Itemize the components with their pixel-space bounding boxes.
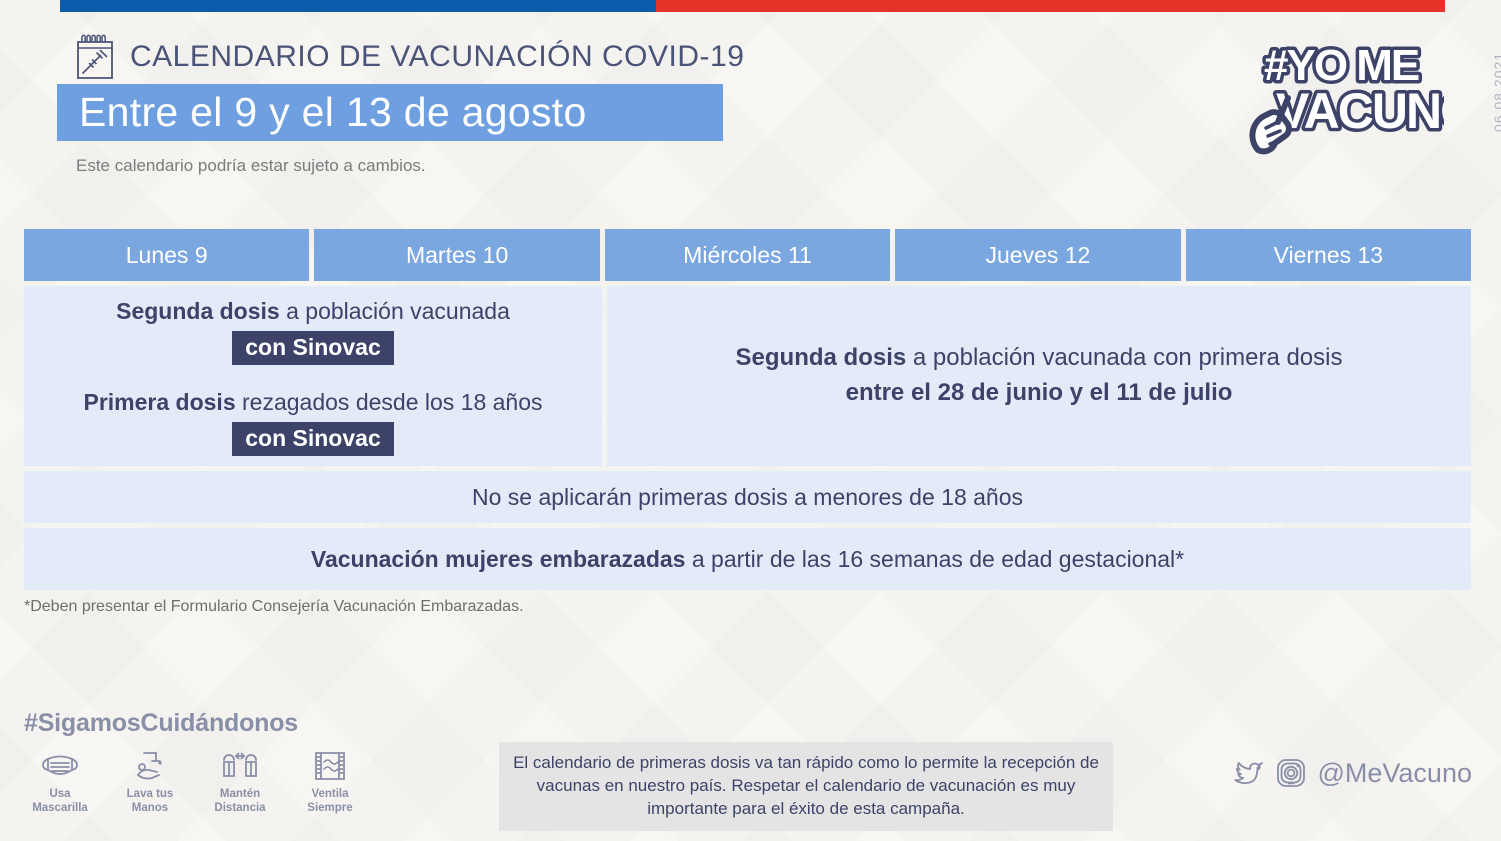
prevention-label-ventilate: Ventila Siempre — [294, 788, 366, 816]
badge-sinovac-2: con Sinovac — [232, 422, 393, 456]
footnote-text: *Deben presentar el Formulario Consejerí… — [24, 598, 524, 616]
subtitle-disclaimer: Este calendario podría estar sujeto a ca… — [76, 156, 426, 176]
right-line-1-rest: a población vacunada con primera dosis — [906, 344, 1342, 371]
prevention-label-mask: Usa Mascarilla — [24, 788, 96, 816]
left-line-1-rest: a población vacunada — [280, 298, 510, 324]
right-line-2-bold: entre el 28 de junio y el 11 de julio — [846, 379, 1233, 406]
prevention-item-wash-hands: Lava tus Manos — [114, 748, 186, 816]
flag-blue-segment — [60, 0, 656, 12]
day-header-row: Lunes 9 Martes 10 Miércoles 11 Jueves 12… — [24, 229, 1471, 281]
infographic-page: CALENDARIO DE VACUNACIÓN COVID-19 Entre … — [0, 0, 1501, 841]
face-mask-icon — [40, 748, 80, 784]
left-line-2-bold: Primera dosis — [83, 389, 235, 415]
badge-sinovac-1: con Sinovac — [232, 331, 393, 365]
row-pregnant-rest: a partir de las 16 semanas de edad gesta… — [685, 546, 1184, 572]
left-line-1: Segunda dosis a población vacunada — [116, 296, 510, 327]
date-range-banner: Entre el 9 y el 13 de agosto — [57, 84, 723, 141]
flag-red-segment — [656, 0, 1445, 12]
prevention-label-wash-hands: Lava tus Manos — [114, 788, 186, 816]
row-pregnant-text: Vacunación mujeres embarazadas a partir … — [311, 546, 1184, 573]
day-header-miercoles: Miércoles 11 — [605, 229, 890, 281]
social-distance-icon — [220, 748, 260, 784]
date-range-text: Entre el 9 y el 13 de agosto — [57, 89, 587, 136]
svg-text:VACUNO: VACUNO — [1276, 83, 1444, 139]
left-line-1-bold: Segunda dosis — [116, 298, 280, 324]
prevention-item-mask: Usa Mascarilla — [24, 748, 96, 816]
cell-wed-fri-content: Segunda dosis a población vacunada con p… — [607, 286, 1471, 466]
prevention-item-distance: Mantén Distancia — [204, 748, 276, 816]
left-line-2-rest: rezagados desde los 18 años — [236, 389, 543, 415]
calendar-syringe-icon — [74, 33, 116, 81]
day-header-lunes: Lunes 9 — [24, 229, 309, 281]
twitter-bird-icon[interactable] — [1230, 758, 1264, 788]
social-media-block: @MeVacuno — [1230, 757, 1473, 789]
campaign-hashtag: #SigamosCuidándonos — [24, 709, 298, 738]
left-line-2: Primera dosis rezagados desde los 18 año… — [83, 387, 542, 418]
social-handle: @MeVacuno — [1318, 758, 1473, 789]
document-date: 06.08.2021 — [1491, 22, 1501, 132]
row-no-minors: No se aplicarán primeras dosis a menores… — [24, 471, 1471, 523]
prevention-item-ventilate: Ventila Siempre — [294, 748, 366, 816]
chile-flag-bar — [60, 0, 1445, 12]
instagram-icon[interactable] — [1275, 757, 1307, 789]
notice-box: El calendario de primeras dosis va tan r… — [499, 742, 1113, 831]
row-pregnant-women: Vacunación mujeres embarazadas a partir … — [24, 528, 1471, 590]
vaccination-calendar-table: Lunes 9 Martes 10 Miércoles 11 Jueves 12… — [24, 229, 1471, 590]
row-pregnant-bold: Vacunación mujeres embarazadas — [311, 546, 686, 572]
right-line-2: entre el 28 de junio y el 11 de julio — [846, 376, 1233, 411]
schedule-split-row: Segunda dosis a población vacunada con S… — [24, 286, 1471, 466]
day-header-jueves: Jueves 12 — [895, 229, 1180, 281]
prevention-measures: Usa Mascarilla Lava tus Manos — [24, 748, 366, 816]
prevention-label-distance: Mantén Distancia — [204, 788, 276, 816]
wash-hands-icon — [130, 748, 170, 784]
right-line-1-bold: Segunda dosis — [736, 344, 907, 371]
ventilation-icon — [310, 748, 350, 784]
day-header-viernes: Viernes 13 — [1186, 229, 1471, 281]
cell-mon-tue-content: Segunda dosis a población vacunada con S… — [24, 286, 602, 466]
yo-me-vacuno-logo: #YO ME VACUNO — [1244, 32, 1444, 162]
page-title: CALENDARIO DE VACUNACIÓN COVID-19 — [130, 40, 744, 74]
right-line-1: Segunda dosis a población vacunada con p… — [736, 341, 1343, 376]
day-header-martes: Martes 10 — [314, 229, 599, 281]
